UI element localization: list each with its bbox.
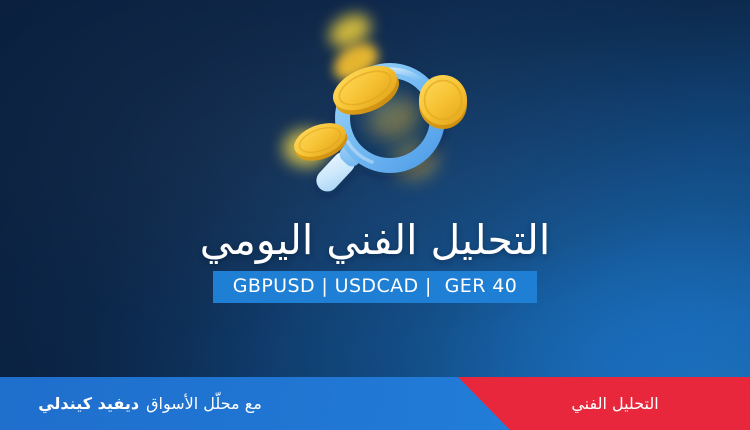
footer-bar: مع محلّل الأسواق ديفيد كيندلي التحليل ال… xyxy=(0,377,750,430)
footer-credit-prefix: مع محلّل الأسواق xyxy=(146,394,262,413)
magnifying-glass-with-coins-icon xyxy=(262,0,512,215)
footer-category-label: التحليل الفني xyxy=(480,377,750,430)
instrument-pairs-badge: GBPUSD | USDCAD | GER 40 xyxy=(213,271,537,303)
promo-banner: التحليل الفني اليومي GBPUSD | USDCAD | G… xyxy=(0,0,750,430)
coin-front-right xyxy=(419,75,467,129)
title-block: التحليل الفني اليومي GBPUSD | USDCAD | G… xyxy=(0,216,750,303)
page-title: التحليل الفني اليومي xyxy=(0,216,750,264)
footer-analyst-name: ديفيد كيندلي xyxy=(38,394,139,413)
footer-analyst-credit: مع محلّل الأسواق ديفيد كيندلي xyxy=(0,377,300,430)
